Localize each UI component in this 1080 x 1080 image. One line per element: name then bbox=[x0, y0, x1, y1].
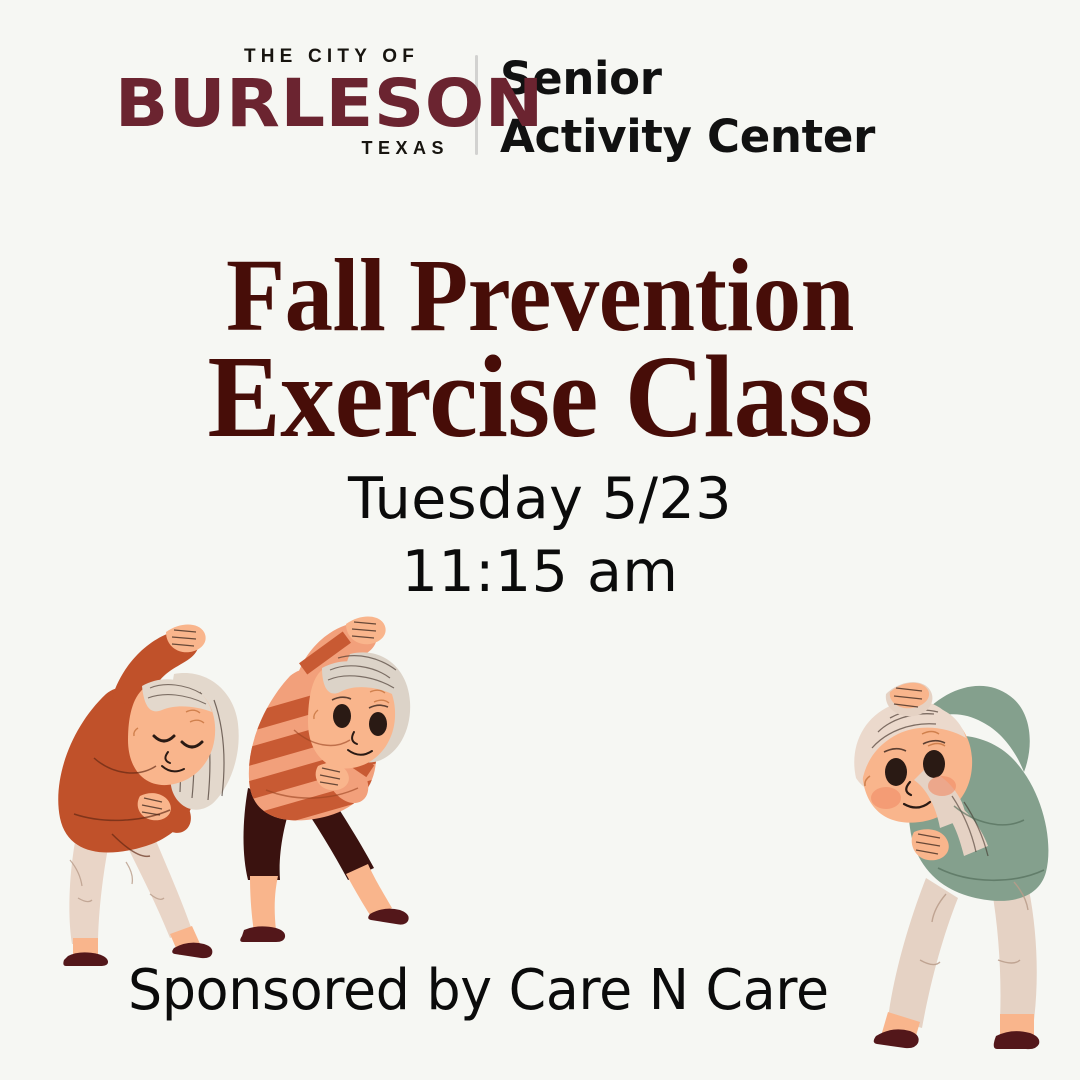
logo-eyebrow-text: THE CITY OF bbox=[239, 47, 419, 66]
sponsor-text: Sponsored by Care N Care bbox=[128, 958, 829, 1023]
illustration-figure-right bbox=[818, 600, 1068, 1062]
city-of-burleson-logo: THE CITY OF BURLESON TEXAS bbox=[205, 42, 453, 157]
page-title: Fall Prevention Exercise Class bbox=[0, 248, 1080, 453]
event-schedule: Tuesday 5/23 11:15 am bbox=[0, 463, 1080, 609]
logo-wordmark-burleson: BURLESON bbox=[114, 72, 543, 136]
illustration-figure-middle bbox=[238, 612, 438, 962]
department-name: Senior Activity Center bbox=[500, 42, 875, 165]
department-name-line2: Activity Center bbox=[500, 108, 875, 166]
event-date: Tuesday 5/23 bbox=[0, 463, 1080, 536]
flyer-poster: THE CITY OF BURLESON TEXAS Senior Activi… bbox=[0, 0, 1080, 1080]
event-time: 11:15 am bbox=[0, 536, 1080, 609]
department-name-line1: Senior bbox=[500, 50, 875, 108]
logo-lockup: THE CITY OF BURLESON TEXAS Senior Activi… bbox=[0, 42, 1080, 167]
page-title-line2: Exercise Class bbox=[38, 341, 1042, 453]
